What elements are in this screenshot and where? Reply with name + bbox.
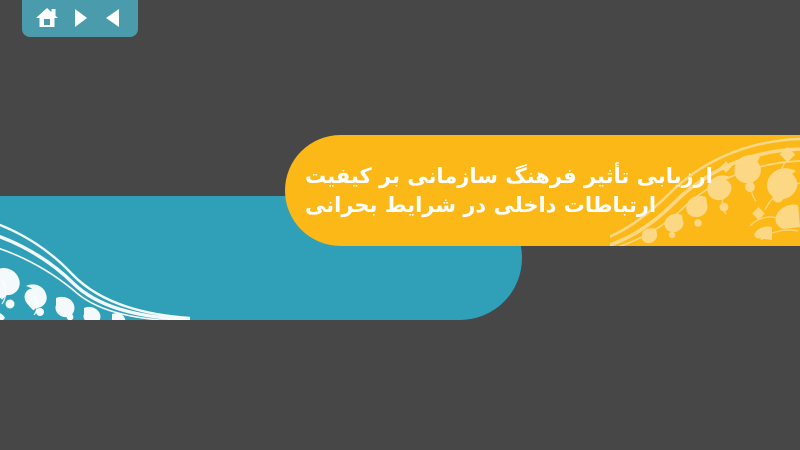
next-slide-button[interactable] <box>67 5 93 31</box>
triangle-left-icon <box>104 8 122 28</box>
triangle-right-icon <box>71 8 89 28</box>
title-line-1: ارزیابی تأثیر فرهنگ سازمانی بر کیفیت <box>305 162 713 191</box>
home-slide-button[interactable] <box>34 5 60 31</box>
presentation-navigation-bar <box>22 0 138 37</box>
previous-slide-button[interactable] <box>100 5 126 31</box>
slide-title: ارزیابی تأثیر فرهنگ سازمانی بر کیفیت ارت… <box>285 135 785 246</box>
title-line-2: ارتباطات داخلی در شرایط بحرانی <box>305 191 656 220</box>
slide-canvas: ارزیابی تأثیر فرهنگ سازمانی بر کیفیت ارت… <box>0 0 800 450</box>
home-icon <box>35 7 59 29</box>
arabesque-corner-ornament <box>0 196 190 320</box>
